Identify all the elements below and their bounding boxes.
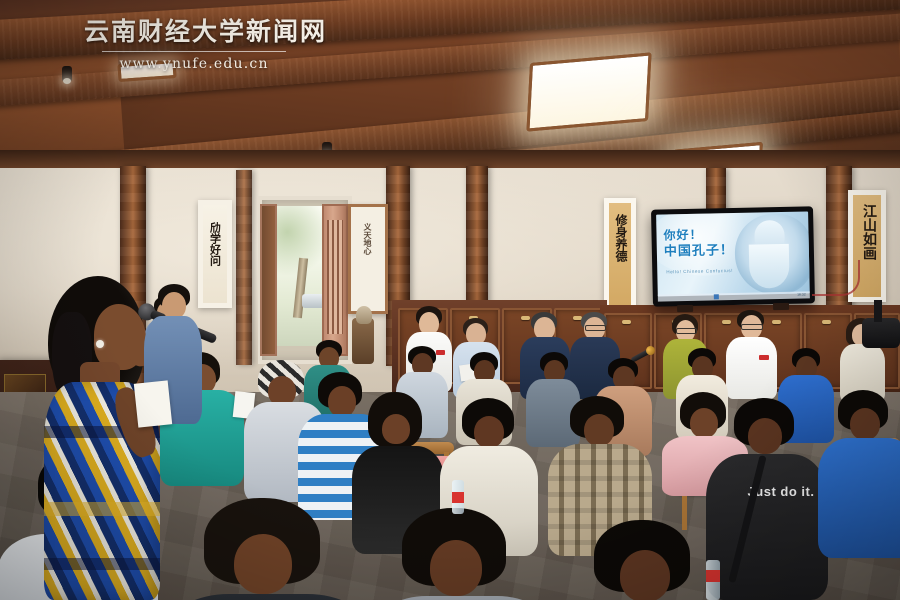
- tv-stand-foot: [773, 303, 789, 310]
- water-bottle[interactable]: [452, 480, 464, 514]
- camera-equipment: [862, 318, 900, 348]
- bottle-label: [452, 492, 464, 503]
- earring: [96, 340, 104, 348]
- watermark-url: www.ynufe.edu.cn: [84, 56, 304, 72]
- name-badge: [759, 355, 769, 360]
- confucius-statue-image: [734, 213, 810, 295]
- car-outside: [302, 294, 322, 308]
- scroll-text: 劤学好问: [209, 222, 221, 266]
- window-shutter-right[interactable]: [322, 204, 348, 356]
- tv-power-cable: [812, 260, 860, 296]
- window-shutter-left[interactable]: [260, 204, 277, 356]
- tv-headline: 你好！ 中国孔子！: [663, 227, 734, 260]
- eyeglasses-icon: [741, 324, 763, 330]
- television-display[interactable]: 你好！ 中国孔子！ Hello! Chinese Confucius! 16:3…: [651, 206, 815, 306]
- scroll-text: 义天地心: [363, 223, 374, 255]
- camera-stand: [874, 300, 882, 322]
- name-badge: [436, 350, 445, 355]
- pedestal: [352, 318, 374, 364]
- calligraphy-scroll-left-1: 劤学好问: [198, 200, 232, 308]
- bottle-label: [706, 570, 720, 582]
- photograph: 劤学好问 义天地心 修身养德 江山如画 你好！: [0, 0, 900, 600]
- tv-headline-line1: 你好！: [663, 227, 733, 243]
- site-watermark: 云南财经大学新闻网 www.ynufe.edu.cn: [84, 12, 304, 72]
- eyeglasses-icon: [585, 325, 606, 331]
- eyeglasses-icon: [676, 328, 697, 334]
- calligraphy-scroll-left-2: 义天地心: [348, 204, 388, 314]
- calligraphy-scroll-center: 修身养德: [604, 198, 636, 310]
- tv-stand-foot: [677, 305, 693, 312]
- windows-icon[interactable]: [714, 294, 719, 299]
- tv-headline-line2: 中国孔子！: [664, 242, 734, 260]
- ceiling-light-panel: [526, 52, 651, 131]
- watermark-divider: [102, 51, 286, 52]
- watermark-site-name: 云南财经大学新闻网: [84, 12, 304, 48]
- water-bottle[interactable]: [706, 560, 720, 600]
- window: [258, 196, 352, 364]
- spotlight-icon: [62, 66, 72, 82]
- wooden-column: [236, 170, 252, 365]
- scroll-text: 修身养德: [613, 214, 630, 262]
- decorative-vase: [356, 306, 372, 324]
- scroll-text: 江山如画: [859, 204, 879, 260]
- notebook: [134, 380, 172, 427]
- window-glass: [276, 206, 322, 346]
- tv-screen: 你好！ 中国孔子！ Hello! Chinese Confucius!: [656, 211, 810, 296]
- tv-clock: 16:32: [797, 292, 806, 296]
